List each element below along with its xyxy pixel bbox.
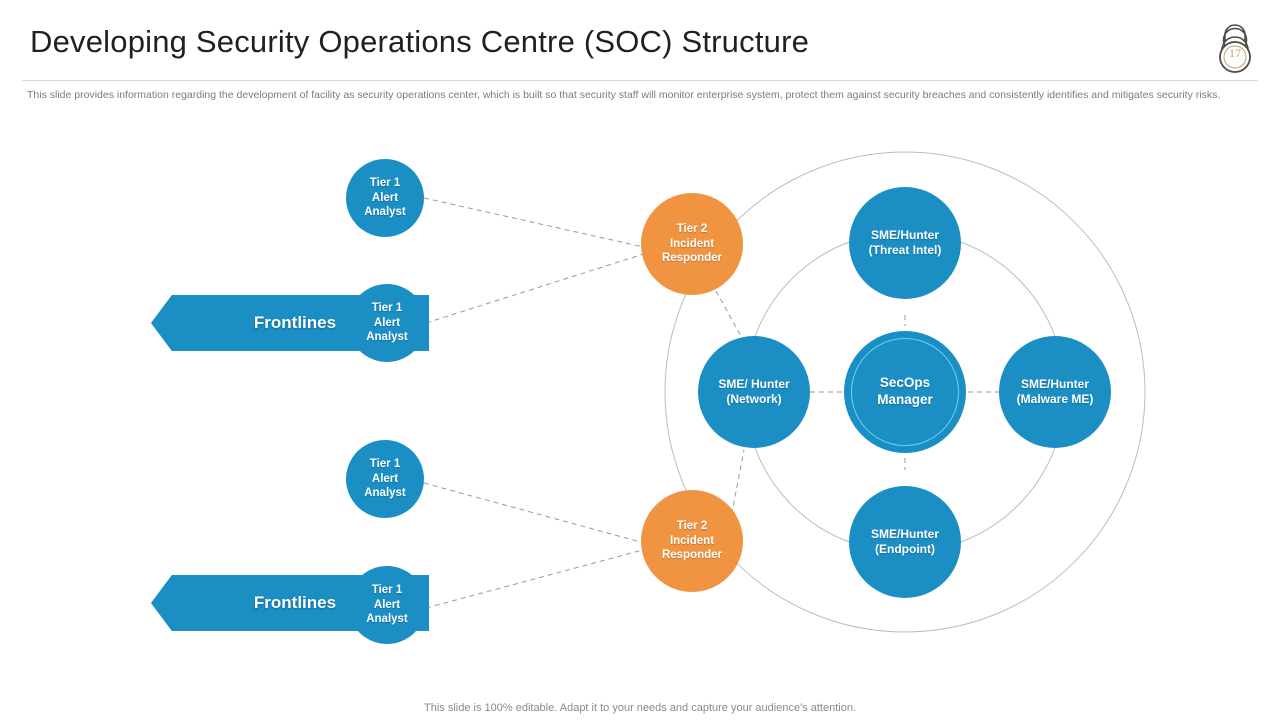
node-label: SME/Hunter (Endpoint) — [871, 527, 939, 557]
node-tier1-alert-analyst[interactable]: Tier 1 Alert Analyst — [348, 566, 426, 644]
footer-note: This slide is 100% editable. Adapt it to… — [0, 702, 1280, 714]
node-tier2-incident-responder[interactable]: Tier 2 Incident Responder — [641, 490, 743, 592]
soc-structure-diagram: Frontlines Frontlines Tier 1 Alert Analy… — [0, 130, 1280, 680]
title-divider — [22, 80, 1258, 81]
connector-tier1-to-tier2 — [426, 548, 650, 608]
node-label: Tier 1 Alert Analyst — [366, 301, 408, 344]
node-label: SecOps Manager — [877, 375, 933, 409]
page-number-badge: 17 — [1208, 18, 1262, 80]
page-subtitle: This slide provides information regardin… — [27, 88, 1253, 102]
node-sme-hunter-network[interactable]: SME/ Hunter (Network) — [698, 336, 810, 448]
node-label: SME/Hunter (Malware ME) — [1017, 377, 1094, 407]
node-label: Tier 1 Alert Analyst — [364, 176, 406, 219]
node-label: Tier 1 Alert Analyst — [366, 583, 408, 626]
node-secops-manager[interactable]: SecOps Manager — [844, 331, 966, 453]
node-label: SME/Hunter (Threat Intel) — [869, 228, 942, 258]
node-label: Tier 1 Alert Analyst — [364, 457, 406, 500]
node-label: Tier 2 Incident Responder — [662, 222, 722, 265]
page-number-text: 17 — [1208, 46, 1262, 61]
connector-tier1-to-tier2 — [426, 252, 650, 323]
connector-tier2-to-sme — [716, 291, 742, 338]
node-sme-hunter-endpoint[interactable]: SME/Hunter (Endpoint) — [849, 486, 961, 598]
node-sme-hunter-malware-me[interactable]: SME/Hunter (Malware ME) — [999, 336, 1111, 448]
page-title: Developing Security Operations Centre (S… — [30, 24, 809, 60]
node-tier1-alert-analyst[interactable]: Tier 1 Alert Analyst — [348, 284, 426, 362]
node-tier1-alert-analyst[interactable]: Tier 1 Alert Analyst — [346, 440, 424, 518]
connector-tier1-to-tier2 — [424, 483, 648, 544]
node-label: Tier 2 Incident Responder — [662, 519, 722, 562]
node-label: SME/ Hunter (Network) — [718, 377, 789, 407]
node-tier1-alert-analyst[interactable]: Tier 1 Alert Analyst — [346, 159, 424, 237]
node-tier2-incident-responder[interactable]: Tier 2 Incident Responder — [641, 193, 743, 295]
node-sme-hunter-threat-intel[interactable]: SME/Hunter (Threat Intel) — [849, 187, 961, 299]
connector-tier1-to-tier2 — [424, 198, 648, 248]
